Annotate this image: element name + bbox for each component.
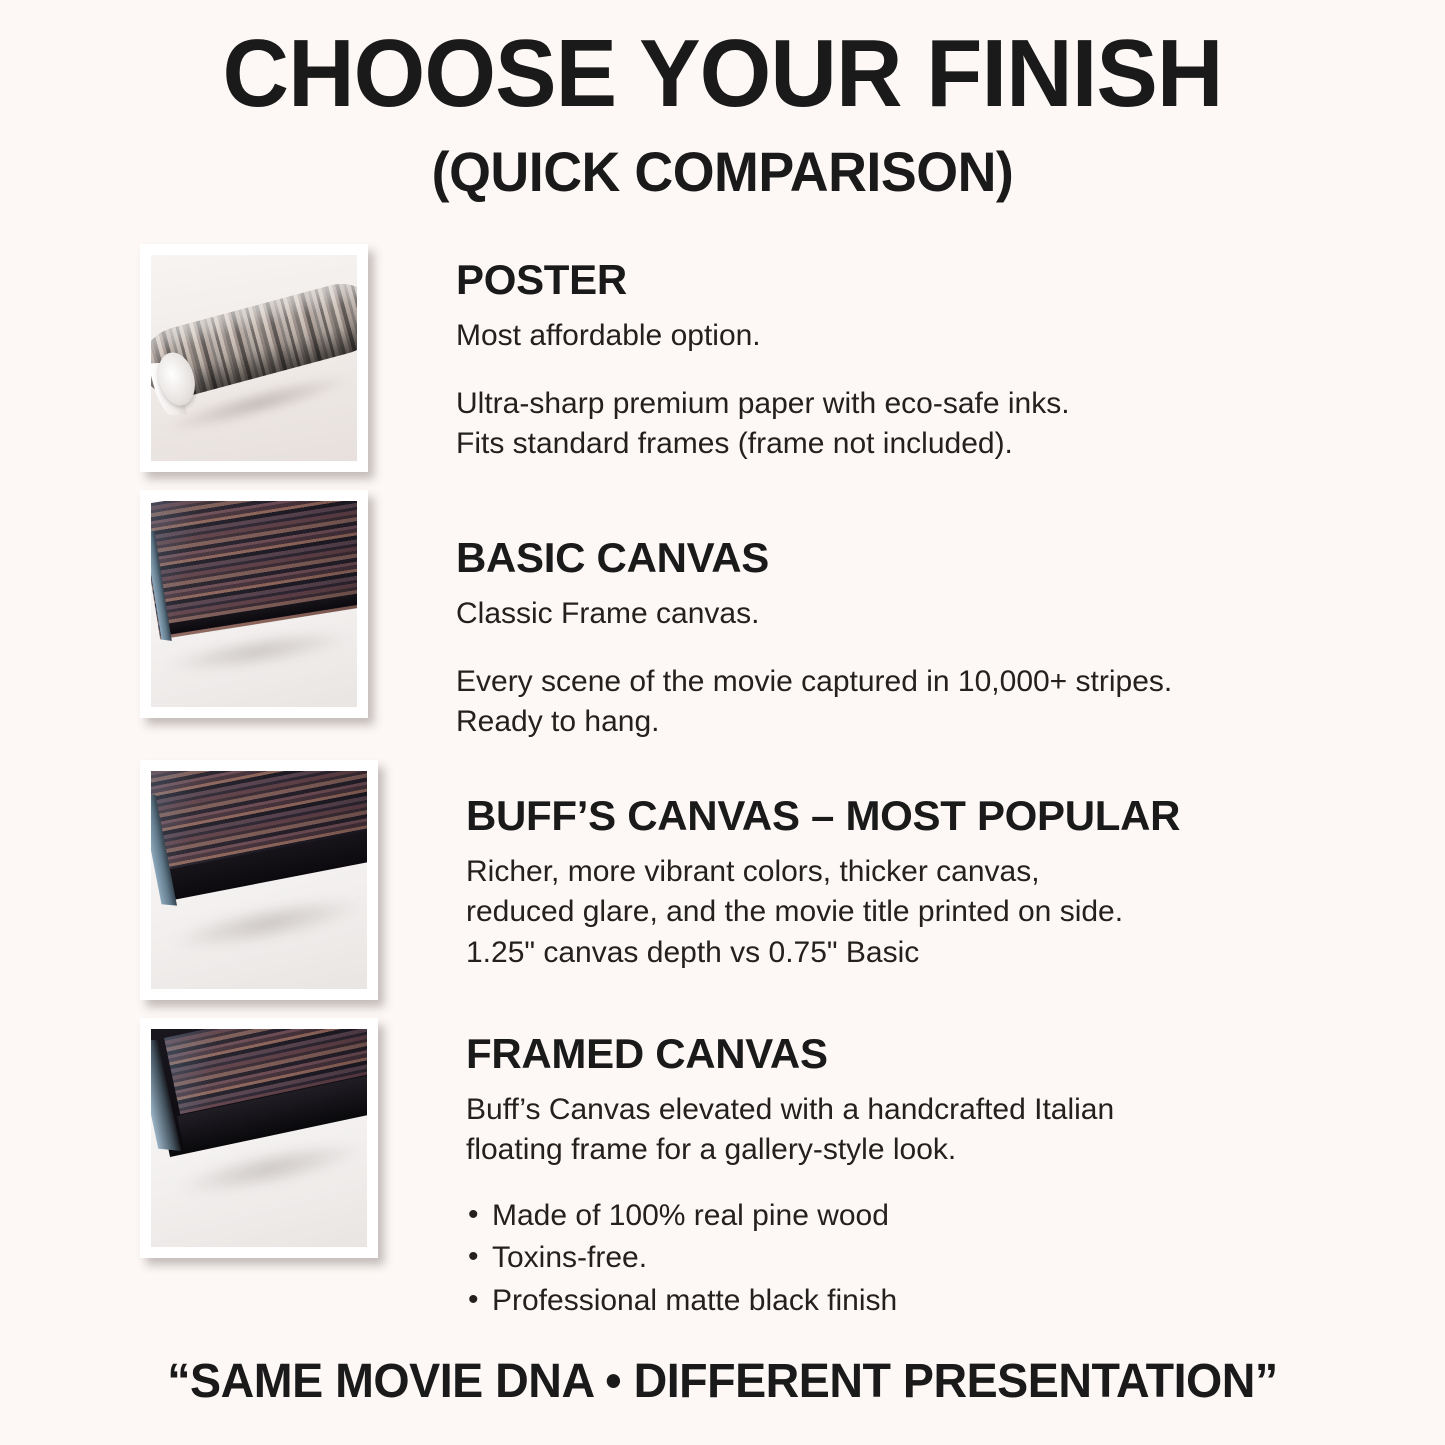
option-body-basic-canvas: Every scene of the movie captured in 10,… — [456, 662, 1445, 742]
option-body-line: 1.25" canvas depth vs 0.75" Basic — [466, 933, 1445, 973]
option-body-line: Buff’s Canvas elevated with a handcrafte… — [466, 1090, 1445, 1130]
option-title-basic-canvas: BASIC CANVAS — [456, 536, 1445, 580]
option-lead-basic-canvas: Classic Frame canvas. — [456, 594, 1445, 634]
option-title-framed-canvas: FRAMED CANVAS — [466, 1032, 1445, 1076]
option-row-poster: POSTER Most affordable option. Ultra-sha… — [0, 244, 1445, 472]
option-body-poster: Ultra-sharp premium paper with eco-safe … — [456, 384, 1445, 464]
footer: “SAME MOVIE DNA • DIFFERENT PRESENTATION… — [0, 1354, 1445, 1409]
option-body-line: Every scene of the movie captured in 10,… — [456, 662, 1445, 702]
buffs-canvas-thumbnail-image — [151, 771, 367, 989]
option-row-framed-canvas: FRAMED CANVAS Buff’s Canvas elevated wit… — [0, 1018, 1445, 1322]
header: CHOOSE YOUR FINISH (QUICK COMPARISON) — [0, 0, 1445, 200]
framed-canvas-thumbnail-image — [151, 1029, 367, 1247]
option-body-line: Fits standard frames (frame not included… — [456, 424, 1445, 464]
option-title-buffs-canvas: BUFF’S CANVAS – MOST POPULAR — [466, 794, 1445, 838]
framed-canvas-thumbnail — [140, 1018, 378, 1258]
option-body-line: reduced glare, and the movie title print… — [466, 892, 1445, 932]
poster-thumbnail-image — [151, 255, 357, 461]
rolled-poster-icon — [151, 255, 357, 461]
option-title-poster: POSTER — [456, 258, 1445, 302]
basic-canvas-thumbnail-image — [151, 501, 357, 707]
page-subtitle: (QUICK COMPARISON) — [29, 144, 1416, 200]
option-body-framed-canvas: Buff’s Canvas elevated with a handcrafte… — [466, 1090, 1445, 1170]
option-body-buffs-canvas: Richer, more vibrant colors, thicker can… — [466, 852, 1445, 973]
poster-thumbnail — [140, 244, 368, 472]
option-body-line: Ultra-sharp premium paper with eco-safe … — [456, 384, 1445, 424]
thumbnail-wrapper-framed-canvas — [140, 1018, 378, 1258]
option-content-framed-canvas: FRAMED CANVAS Buff’s Canvas elevated wit… — [378, 1018, 1445, 1322]
thumbnail-wrapper-basic-canvas — [140, 490, 368, 718]
framed-canvas-corner-icon — [151, 1029, 367, 1247]
list-item: Toxins-free. — [466, 1237, 1445, 1280]
option-row-basic-canvas: BASIC CANVAS Classic Frame canvas. Every… — [0, 490, 1445, 742]
list-item: Professional matte black finish — [466, 1280, 1445, 1323]
basic-canvas-corner-icon — [151, 501, 357, 707]
page-title: CHOOSE YOUR FINISH — [29, 26, 1416, 122]
infographic-page: CHOOSE YOUR FINISH (QUICK COMPARISON) — [0, 0, 1445, 1445]
option-content-buffs-canvas: BUFF’S CANVAS – MOST POPULAR Richer, mor… — [378, 760, 1445, 973]
option-body-line: floating frame for a gallery-style look. — [466, 1130, 1445, 1170]
option-row-buffs-canvas: BUFF’S CANVAS – MOST POPULAR Richer, mor… — [0, 760, 1445, 1000]
list-item: Made of 100% real pine wood — [466, 1195, 1445, 1238]
option-content-poster: POSTER Most affordable option. Ultra-sha… — [368, 244, 1445, 464]
buffs-canvas-thumbnail — [140, 760, 378, 1000]
option-content-basic-canvas: BASIC CANVAS Classic Frame canvas. Every… — [368, 490, 1445, 742]
option-lead-poster: Most affordable option. — [456, 316, 1445, 356]
option-body-line: Richer, more vibrant colors, thicker can… — [466, 852, 1445, 892]
basic-canvas-thumbnail — [140, 490, 368, 718]
framed-canvas-feature-list: Made of 100% real pine wood Toxins-free.… — [466, 1195, 1445, 1323]
thumbnail-wrapper-buffs-canvas — [140, 760, 378, 1000]
option-body-line: Ready to hang. — [456, 702, 1445, 742]
options-list: POSTER Most affordable option. Ultra-sha… — [0, 244, 1445, 1322]
thumbnail-wrapper-poster — [140, 244, 368, 472]
buffs-canvas-corner-icon — [151, 771, 367, 989]
footer-tagline: “SAME MOVIE DNA • DIFFERENT PRESENTATION… — [22, 1354, 1424, 1409]
